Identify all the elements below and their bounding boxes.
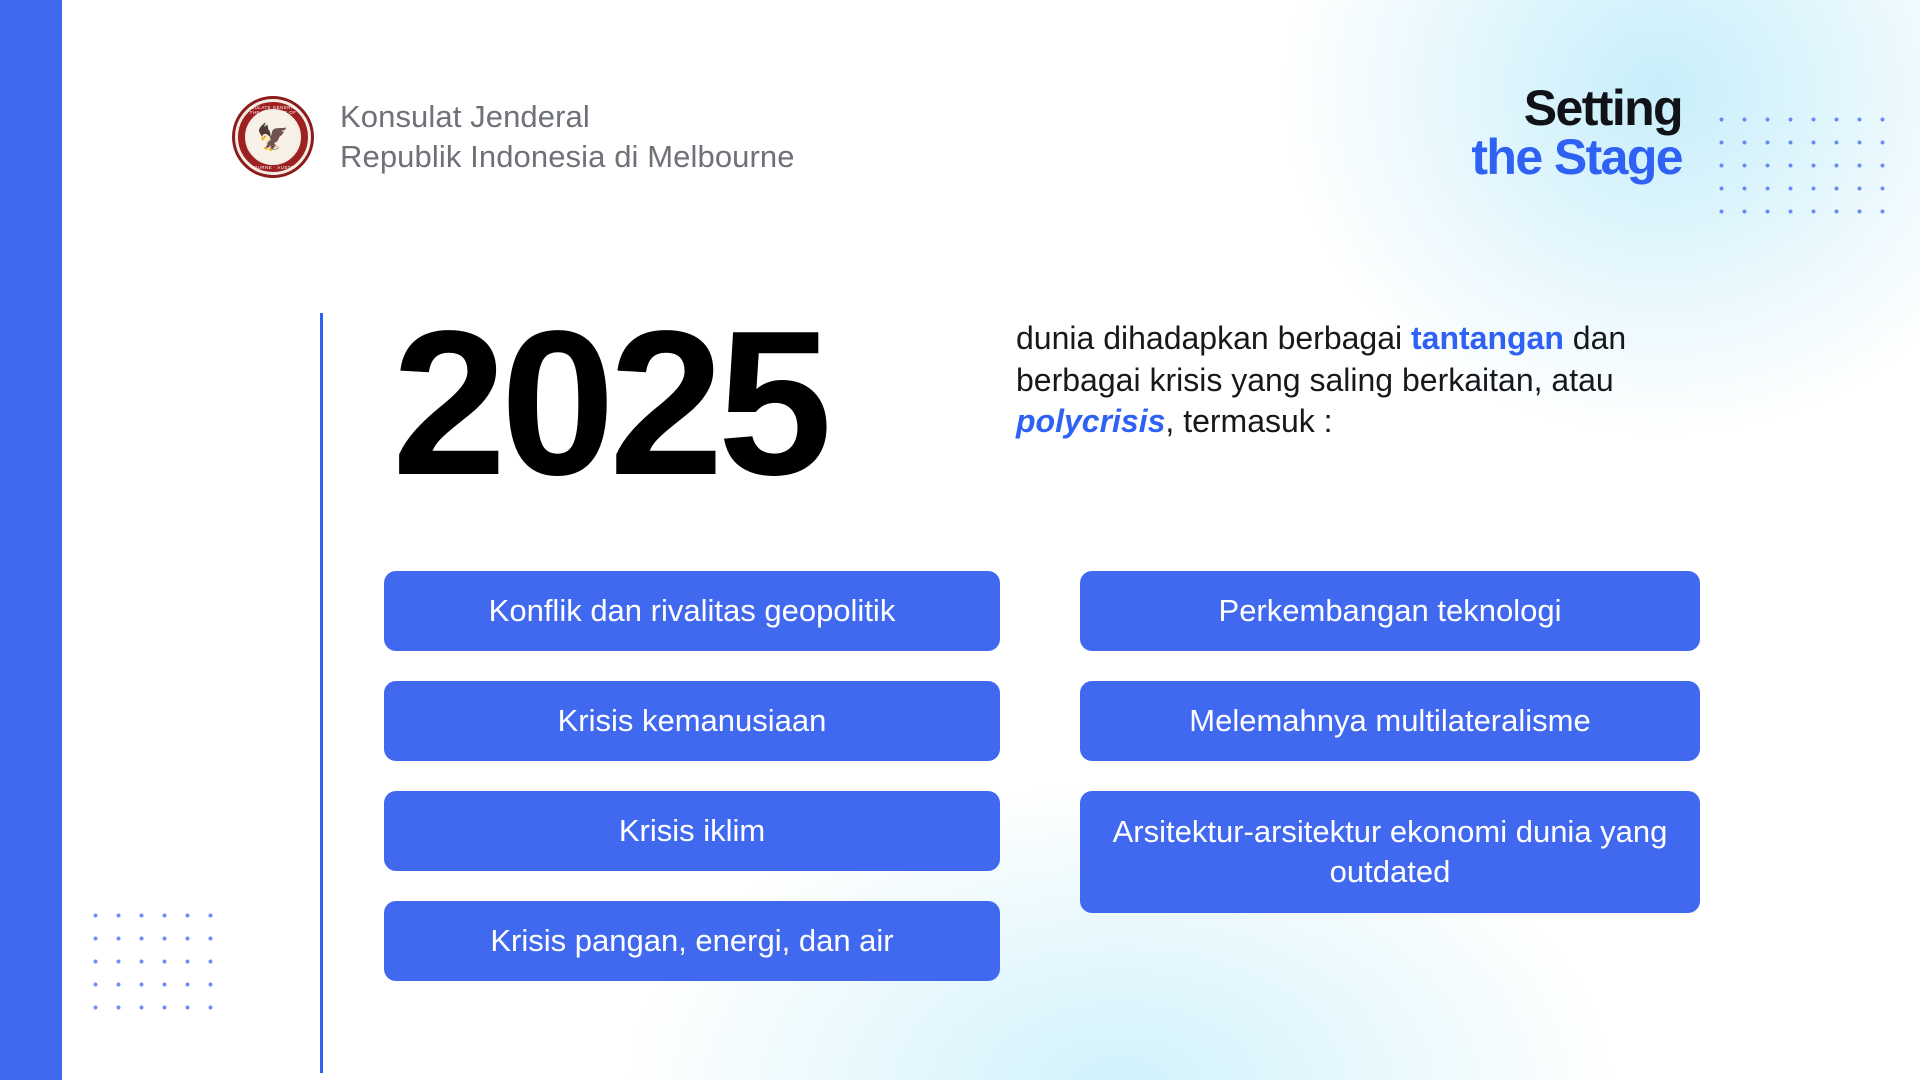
pill-item[interactable]: Krisis kemanusiaan (384, 681, 1000, 761)
dot-grid-bottom-left (84, 904, 224, 1022)
slide-canvas: CONSULATE GENERAL OF THE REPUBLIC OF IND… (0, 0, 1920, 1080)
year-heading: 2025 (392, 300, 826, 506)
left-pill-column: Konflik dan rivalitas geopolitik Krisis … (384, 571, 1000, 981)
right-pill-column: Perkembangan teknologi Melemahnya multil… (1080, 571, 1700, 913)
organization-name: Konsulat Jenderal Republik Indonesia di … (340, 97, 795, 178)
pill-item[interactable]: Krisis iklim (384, 791, 1000, 871)
pill-item[interactable]: Krisis pangan, energi, dan air (384, 901, 1000, 981)
emblem-bottom-text: MELBOURNE · AUSTRALIA (235, 165, 311, 170)
pill-item[interactable]: Perkembangan teknologi (1080, 571, 1700, 651)
garuda-emblem-icon: CONSULATE GENERAL OF THE REPUBLIC OF IND… (232, 96, 314, 178)
stage-title-block: Setting the Stage (1471, 84, 1682, 183)
intro-highlight-polycrisis: polycrisis (1016, 403, 1165, 439)
emblem-inner: 🦅 (247, 111, 299, 163)
left-accent-bar (0, 0, 62, 1080)
eagle-icon: 🦅 (257, 124, 289, 150)
pill-item[interactable]: Arsitektur-arsitektur ekonomi dunia yang… (1080, 791, 1700, 913)
dot-grid-top-right (1710, 108, 1896, 226)
intro-highlight-tantangan: tantangan (1411, 320, 1564, 356)
intro-paragraph: dunia dihadapkan berbagai tantangan dan … (1016, 318, 1756, 443)
stage-title-line1: Setting (1471, 84, 1682, 132)
pill-item[interactable]: Melemahnya multilateralisme (1080, 681, 1700, 761)
slide-header: CONSULATE GENERAL OF THE REPUBLIC OF IND… (232, 96, 795, 178)
intro-part3: , termasuk : (1165, 403, 1332, 439)
stage-title-line2: the Stage (1471, 132, 1682, 183)
pill-item[interactable]: Konflik dan rivalitas geopolitik (384, 571, 1000, 651)
intro-part1: dunia dihadapkan berbagai (1016, 320, 1411, 356)
vertical-divider (320, 313, 323, 1073)
